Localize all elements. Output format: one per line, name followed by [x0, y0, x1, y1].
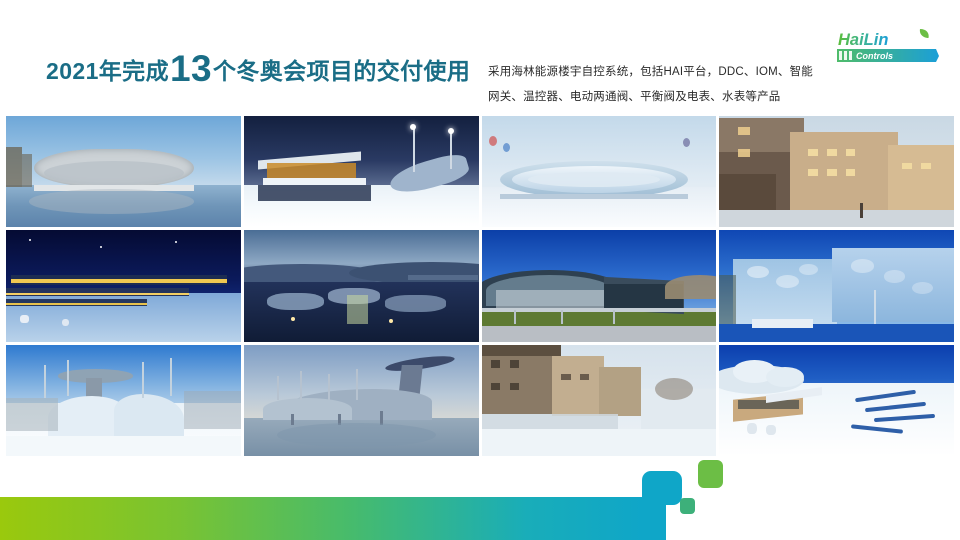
- gallery-item-village[interactable]: [482, 345, 717, 456]
- gallery-item-crosscountry[interactable]: [244, 116, 479, 227]
- photo-valleynight: [244, 230, 479, 341]
- venue-photo-grid: [6, 116, 954, 456]
- gallery-item-iceribbon[interactable]: [482, 116, 717, 227]
- photo-watercube: [719, 230, 954, 341]
- gallery-item-birdsnest[interactable]: [6, 116, 241, 227]
- photo-birdsnest: [6, 116, 241, 227]
- photo-skijump: [244, 345, 479, 456]
- photo-village: [482, 345, 717, 456]
- gallery-item-slope[interactable]: [719, 345, 954, 456]
- photo-bigair: [6, 345, 241, 456]
- description-text: 采用海林能源楼宇自控系统，包括HAI平台，DDC、IOM、智能 网关、温控器、电…: [488, 60, 848, 110]
- photo-nightvenue: [6, 230, 241, 341]
- description-line-2: 网关、温控器、电动两通阀、平衡阀及电表、水表等产品: [488, 85, 848, 110]
- description-line-1: 采用海林能源楼宇自控系统，包括HAI平台，DDC、IOM、智能: [488, 60, 848, 85]
- svg-text:HaiLin: HaiLin: [838, 31, 888, 49]
- title-suffix: 个冬奥会项目的交付使用: [213, 60, 470, 83]
- footer-gradient-bar: [0, 497, 642, 540]
- footer-green-square: [698, 460, 723, 488]
- hailin-logo: HaiLin Controls: [836, 28, 942, 64]
- gallery-item-watercube[interactable]: [719, 230, 954, 341]
- photo-iceribbon: [482, 116, 717, 227]
- photo-arena: [482, 230, 717, 341]
- photo-slope: [719, 345, 954, 456]
- gallery-item-hotel[interactable]: [719, 116, 954, 227]
- photo-crosscountry: [244, 116, 479, 227]
- gallery-item-valleynight[interactable]: [244, 230, 479, 341]
- gallery-item-skijump[interactable]: [244, 345, 479, 456]
- gallery-item-arena[interactable]: [482, 230, 717, 341]
- footer-green-dot: [680, 498, 695, 514]
- photo-hotel: [719, 116, 954, 227]
- title-prefix: 2021年完成: [46, 60, 169, 83]
- gallery-item-bigair[interactable]: [6, 345, 241, 456]
- footer-cyan-step-shape: [642, 471, 682, 505]
- slide-root: 2021年完成 13 个冬奥会项目的交付使用 采用海林能源楼宇自控系统，包括HA…: [0, 0, 960, 540]
- page-title: 2021年完成 13 个冬奥会项目的交付使用: [46, 48, 470, 85]
- svg-text:Controls: Controls: [856, 51, 893, 61]
- gallery-item-nightvenue[interactable]: [6, 230, 241, 341]
- title-highlight-number: 13: [169, 50, 213, 87]
- slide-header: 2021年完成 13 个冬奥会项目的交付使用 采用海林能源楼宇自控系统，包括HA…: [0, 0, 960, 112]
